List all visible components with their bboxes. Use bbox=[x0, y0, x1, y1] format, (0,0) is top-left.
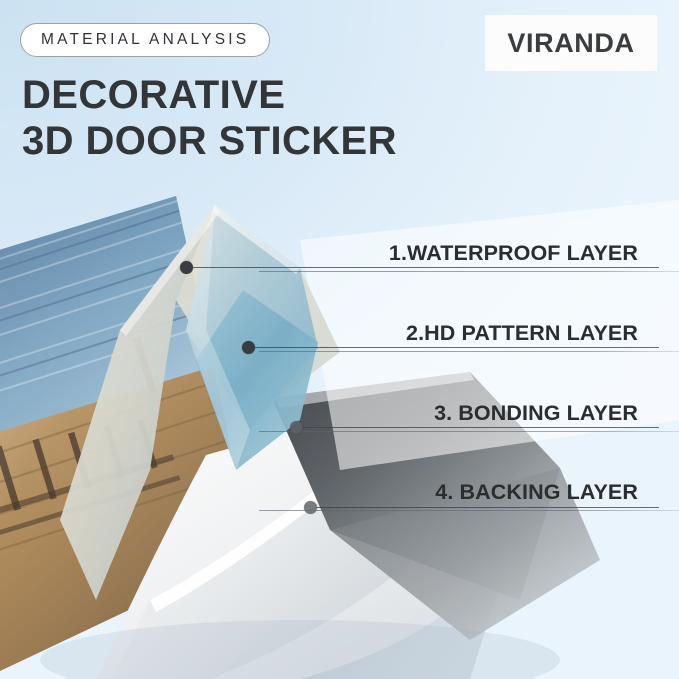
leader-line-2 bbox=[254, 347, 659, 348]
leader-line-3 bbox=[302, 427, 659, 428]
layer-rule-1 bbox=[259, 271, 679, 272]
leader-line-4 bbox=[316, 507, 659, 508]
layer-label-3: 3. BONDING LAYER bbox=[259, 403, 679, 425]
layer-marker-dot-2 bbox=[242, 341, 255, 354]
brand-name: VIRANDA bbox=[507, 28, 634, 59]
layer-label-2: 2.HD PATTERN LAYER bbox=[259, 323, 679, 345]
brand-logo: VIRANDA bbox=[485, 15, 657, 71]
badge-label: MATERIAL ANALYSIS bbox=[41, 31, 249, 49]
layer-marker-dot-1 bbox=[180, 261, 193, 274]
layer-label-4: 4. BACKING LAYER bbox=[259, 482, 679, 504]
layer-rule-3 bbox=[259, 431, 679, 432]
layer-marker-dot-4 bbox=[304, 501, 317, 514]
page-title-line-2: 3D DOOR STICKER bbox=[22, 121, 397, 161]
layer-marker-dot-3 bbox=[290, 421, 303, 434]
layer-label-1: 1.WATERPROOF LAYER bbox=[259, 243, 679, 265]
layer-rule-2 bbox=[259, 351, 679, 352]
material-analysis-badge: MATERIAL ANALYSIS bbox=[20, 23, 270, 57]
infographic-canvas: MATERIAL ANALYSIS DECORATIVE 3D DOOR STI… bbox=[0, 0, 679, 679]
leader-line-1 bbox=[192, 267, 659, 268]
page-title-line-1: DECORATIVE bbox=[22, 75, 285, 115]
layer-rule-4 bbox=[259, 510, 679, 511]
